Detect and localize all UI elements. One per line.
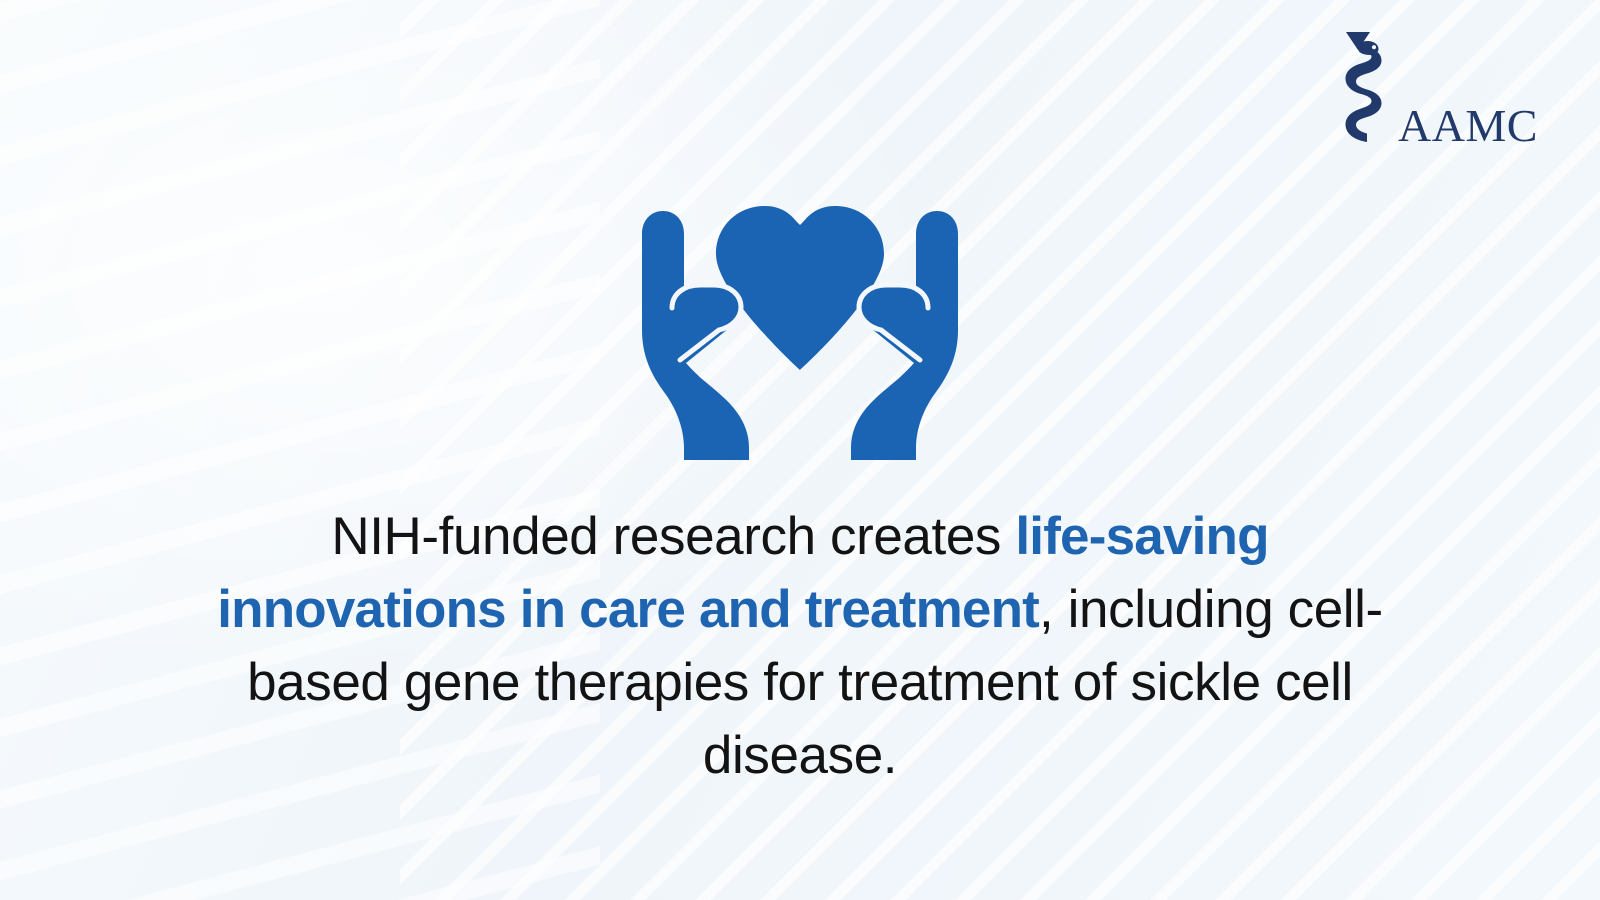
hands-holding-heart-svg: [620, 108, 980, 478]
heart-shape: [716, 206, 884, 370]
rod-of-asclepius-icon: [1336, 28, 1392, 146]
infographic-canvas: AAMC NIH-funded resear: [0, 0, 1600, 900]
aamc-wordmark: AAMC: [1398, 104, 1538, 148]
hands-holding-heart-illustration: [620, 108, 980, 478]
headline-segment-plain-1: NIH-funded research creates: [331, 507, 1015, 566]
headline-text: NIH-funded research creates life-saving …: [210, 500, 1390, 792]
aamc-logo[interactable]: AAMC: [1336, 28, 1538, 146]
